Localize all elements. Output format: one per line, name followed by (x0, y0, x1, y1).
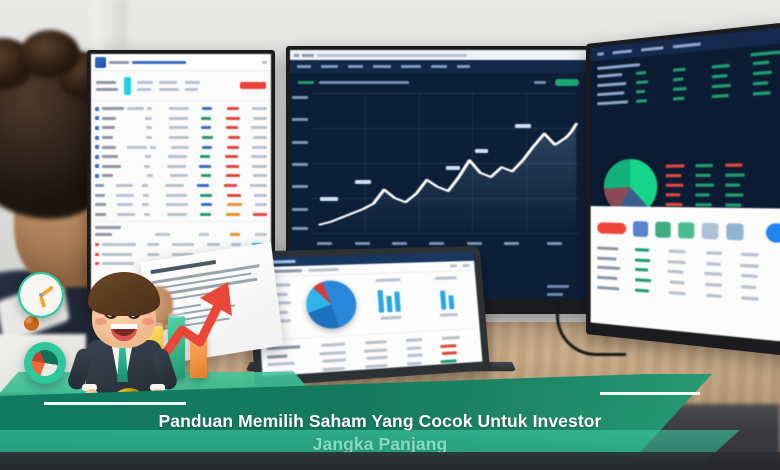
mini-bar-chart-left[interactable] (361, 278, 418, 334)
filter-value (159, 88, 179, 91)
app-name-text (109, 61, 129, 64)
tab-item[interactable] (457, 65, 470, 68)
table-row[interactable] (95, 123, 267, 133)
table-row[interactable] (95, 104, 267, 114)
mascot-hair (88, 272, 160, 316)
filter-value (137, 88, 151, 91)
scene-root: Panduan Memilih Saham Yang Cocok Untuk I… (0, 0, 780, 470)
tab-item[interactable] (431, 65, 447, 68)
trend-line-svg (312, 93, 579, 233)
mascot-blush-right (142, 318, 154, 325)
filter-label (96, 88, 118, 91)
table-row[interactable] (95, 171, 267, 181)
table-row[interactable] (95, 152, 267, 162)
filter-label (96, 81, 116, 84)
tab-item[interactable] (401, 65, 421, 68)
app-logo-icon (95, 57, 106, 68)
volume-legend (547, 285, 581, 299)
table-row[interactable] (95, 210, 267, 220)
app-subtitle-text (132, 61, 186, 64)
trend-chart-panel[interactable] (290, 73, 587, 255)
nav-item[interactable] (641, 46, 663, 51)
chart-icon[interactable] (633, 221, 648, 237)
price-line-plot (312, 93, 579, 233)
laptop-screen[interactable] (255, 252, 483, 377)
banner-rule-left (44, 402, 186, 405)
table-row[interactable] (95, 142, 267, 152)
browser-title-bar (290, 50, 587, 60)
pie-chart-glyph (32, 350, 58, 376)
portfolio-panel[interactable] (591, 42, 780, 227)
menu-icon[interactable] (597, 52, 604, 56)
document-icon[interactable] (726, 223, 743, 240)
nav-item[interactable] (673, 42, 701, 48)
table-row[interactable] (95, 190, 267, 200)
primary-action-button[interactable] (240, 82, 266, 89)
settings-icon[interactable] (450, 264, 457, 267)
buy-button[interactable] (766, 223, 780, 243)
bottom-strip (0, 452, 780, 470)
banner-rule-right (600, 392, 700, 395)
clock-icon (18, 272, 64, 318)
table-row[interactable] (95, 162, 267, 172)
left-filter-bar[interactable] (91, 71, 271, 101)
table-row[interactable] (95, 200, 267, 210)
watchlist-table[interactable] (597, 243, 780, 306)
left-app-header (91, 54, 271, 71)
tab-item[interactable] (321, 65, 338, 68)
sell-button[interactable] (597, 222, 626, 234)
filter-value (185, 81, 200, 84)
mini-bar-chart-right[interactable] (420, 276, 475, 331)
quick-action-icons[interactable] (597, 219, 780, 243)
title-line-1: Panduan Memilih Saham Yang Cocok Untuk I… (90, 410, 670, 433)
chart-action-badge[interactable] (555, 79, 579, 86)
filter-value (185, 88, 198, 91)
filter-chip-icon[interactable] (124, 77, 131, 95)
tree-icon[interactable] (678, 222, 694, 239)
laptop-dashboard-body (256, 271, 479, 340)
tab-item[interactable] (373, 65, 391, 68)
tab-item[interactable] (297, 65, 311, 68)
expand-icon[interactable] (463, 264, 470, 267)
report-icon[interactable] (702, 223, 719, 240)
table-row[interactable] (95, 133, 267, 143)
close-icon[interactable] (262, 61, 267, 64)
hair-curl (20, 30, 80, 78)
center-nav-tabs[interactable] (290, 60, 587, 73)
filter-value (159, 81, 177, 84)
table-section-header (95, 221, 267, 230)
table-row[interactable] (95, 230, 267, 240)
laptop-pie-chart[interactable] (305, 280, 358, 330)
mascot-blush-left (95, 318, 107, 325)
tab-item[interactable] (348, 65, 363, 68)
nav-item[interactable] (612, 49, 632, 54)
orange-sphere-small (24, 316, 39, 331)
right-monitor-screen[interactable] (591, 26, 780, 343)
table-row[interactable] (95, 181, 267, 191)
laptop[interactable] (247, 246, 490, 387)
clock-hand-hour (39, 296, 46, 308)
filter-value (137, 81, 153, 84)
table-row[interactable] (95, 114, 267, 124)
growth-icon[interactable] (655, 222, 671, 238)
chart-header (298, 79, 579, 86)
tab-item[interactable] (308, 268, 339, 272)
